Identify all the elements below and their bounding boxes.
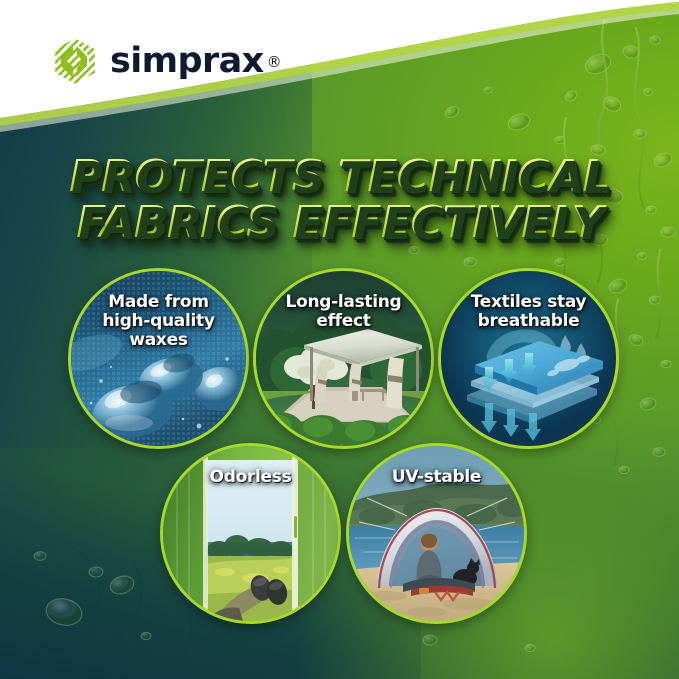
feature-caption-line-1: Long-lasting <box>286 292 402 312</box>
feature-caption-line-1: Odorless <box>210 467 292 487</box>
page-title: PROTECTS TECHNICAL FABRICS EFFECTIVELY <box>0 154 679 246</box>
headline-line-2: FABRICS EFFECTIVELY <box>0 200 679 246</box>
hexagon-striped-s-logo-icon <box>52 36 98 86</box>
feature-circle-long-lasting-effect[interactable]: Long-lasting effect <box>253 268 434 449</box>
feature-caption-line-2: high-quality waxes <box>102 311 214 350</box>
feature-circle-made-from-waxes[interactable]: Made from high-quality waxes <box>68 268 249 449</box>
brand-logo[interactable]: simprax ® <box>52 36 281 86</box>
feature-caption-line-1: Made from <box>108 292 208 312</box>
feature-caption: Long-lasting effect <box>262 293 425 331</box>
feature-caption: Odorless <box>169 468 332 487</box>
headline-line-1: PROTECTS TECHNICAL <box>0 154 679 200</box>
feature-caption: Textiles stay breathable <box>447 293 610 331</box>
feature-circle-odorless[interactable]: Odorless <box>160 443 341 624</box>
feature-circle-uv-stable[interactable]: UV-stable <box>346 443 527 624</box>
registered-trademark-symbol: ® <box>267 55 281 70</box>
brand-name-text: simprax <box>110 44 264 79</box>
feature-caption: UV-stable <box>355 468 518 487</box>
feature-caption-line-1: Textiles stay <box>471 292 587 312</box>
feature-caption-line-2: effect <box>316 311 370 331</box>
brand-wordmark: simprax ® <box>110 44 281 79</box>
feature-caption-line-1: UV-stable <box>392 467 481 487</box>
feature-circle-textiles-stay-breathable[interactable]: Textiles stay breathable <box>438 268 619 449</box>
product-infographic-poster: simprax ® PROTECTS TECHNICAL FABRICS EFF… <box>0 0 679 679</box>
feature-caption: Made from high-quality waxes <box>77 293 240 350</box>
feature-caption-line-2: breathable <box>478 311 580 331</box>
